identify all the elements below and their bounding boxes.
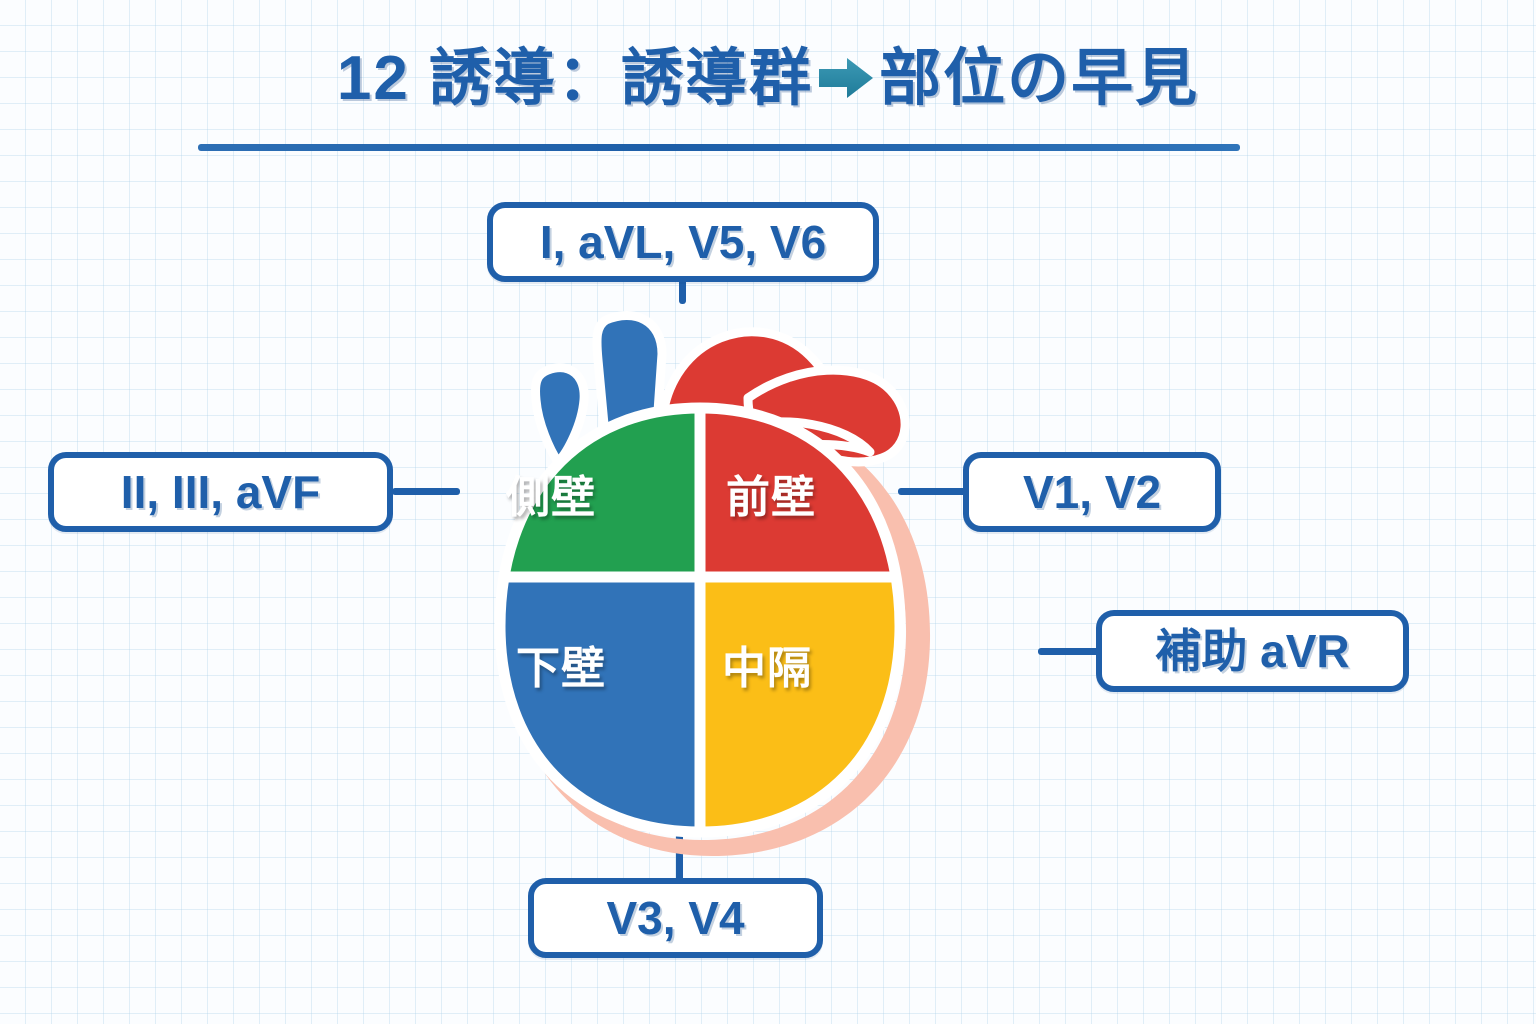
- connector-avr: [1038, 648, 1100, 655]
- right-arrow-icon: [817, 48, 875, 113]
- slide-canvas: 12 誘導：誘導群部位の早見: [0, 0, 1536, 1024]
- heart-diagram: 側壁 前壁 下壁 中隔: [430, 280, 970, 860]
- callout-septal-leads-label: V3, V4: [606, 895, 744, 941]
- title-underline: [198, 144, 1240, 151]
- title-text-after: 部位の早見: [879, 44, 1199, 113]
- callout-anterior-leads-label: V1, V2: [1023, 469, 1161, 515]
- heart-illustration: [430, 280, 970, 860]
- callout-lateral-leads[interactable]: I, aVL, V5, V6: [487, 202, 879, 282]
- callout-lateral-leads-label: I, aVL, V5, V6: [540, 219, 826, 265]
- callout-avr-lead-label: 補助 aVR: [1155, 628, 1349, 674]
- callout-septal-leads[interactable]: V3, V4: [528, 878, 823, 958]
- callout-inferior-leads-label: II, III, aVF: [121, 469, 320, 515]
- callout-inferior-leads[interactable]: II, III, aVF: [48, 452, 393, 532]
- title-block: 12 誘導：誘導群部位の早見: [0, 46, 1536, 113]
- callout-anterior-leads[interactable]: V1, V2: [963, 452, 1221, 532]
- callout-avr-lead[interactable]: 補助 aVR: [1096, 610, 1409, 692]
- title-text-before: 12 誘導：誘導群: [337, 44, 813, 113]
- page-title: 12 誘導：誘導群部位の早見: [337, 46, 1199, 113]
- quadrant-inferior: [430, 580, 698, 860]
